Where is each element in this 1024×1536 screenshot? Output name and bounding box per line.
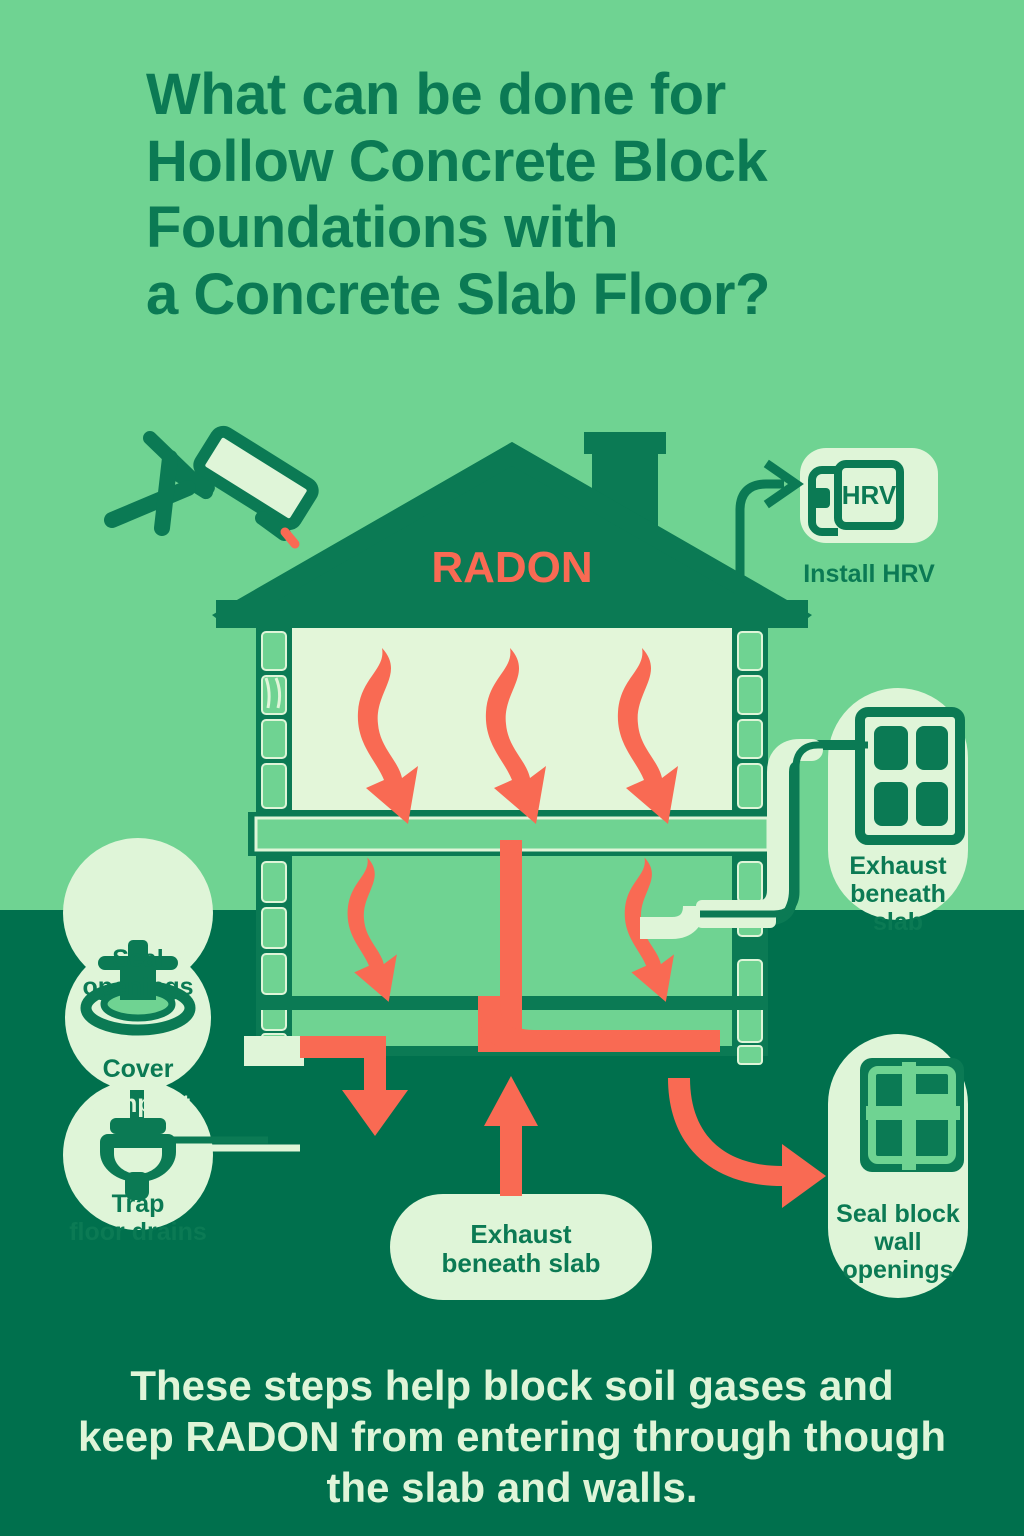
caption-line-2: keep RADON from entering through though — [62, 1411, 962, 1462]
chimney-cap — [584, 432, 666, 454]
seal-openings-line-2: openings — [58, 973, 218, 1001]
ebs-bottom-line-2: beneath slab — [390, 1249, 652, 1278]
cover-sump-pit-line-1: Cover — [58, 1055, 218, 1083]
title-line-2: Hollow Concrete Block — [146, 129, 886, 196]
callout-label-seal-openings: Seal openings — [58, 945, 218, 1001]
sbwo-line-1: Seal block — [824, 1200, 972, 1228]
title-line-4: a Concrete Slab Floor? — [146, 262, 886, 329]
callout-label-exhaust-beneath-slab-right: Exhaust beneath slab — [828, 852, 968, 936]
ebs-bottom-line-1: Exhaust — [390, 1220, 652, 1249]
sbwo-line-3: openings — [824, 1256, 972, 1284]
title-line-3: Foundations with — [146, 195, 886, 262]
title-line-1: What can be done for — [146, 62, 886, 129]
left-footing — [244, 1036, 304, 1066]
callout-label-install-hrv: Install HRV — [789, 560, 949, 588]
bottom-caption: These steps help block soil gases and ke… — [62, 1360, 962, 1514]
caulk-gun-icon — [112, 429, 316, 544]
seal-openings-line-1: Seal — [58, 945, 218, 973]
trap-floor-drains-line-2: floor drains — [38, 1218, 238, 1246]
left-block-wall-basement — [256, 856, 292, 1056]
ebs-right-line-2: beneath — [828, 880, 968, 908]
callout-label-exhaust-beneath-slab-bottom: Exhaust beneath slab — [390, 1220, 652, 1278]
infographic-poster: What can be done for Hollow Concrete Blo… — [0, 0, 1024, 1536]
callout-label-seal-block-wall-openings: Seal block wall openings — [824, 1200, 972, 1284]
soil-gas-up-arrow — [484, 1076, 538, 1196]
trap-floor-drains-line-1: Trap — [38, 1190, 238, 1218]
right-block-wall-basement — [732, 856, 768, 1064]
center-riser — [500, 840, 522, 1018]
sbwo-line-2: wall — [824, 1228, 972, 1256]
left-block-wall-upper — [256, 628, 292, 818]
page-title: What can be done for Hollow Concrete Blo… — [146, 62, 886, 329]
right-block-wall-upper — [732, 628, 768, 818]
cover-sump-pit-line-2: sump pit — [48, 1090, 228, 1118]
ebs-right-line-1: Exhaust — [828, 852, 968, 880]
ebs-right-line-3: slab — [828, 908, 968, 936]
install-hrv-line-1: Install HRV — [789, 560, 949, 588]
caption-line-1: These steps help block soil gases and — [62, 1360, 962, 1411]
callout-label-trap-floor-drains: Trap floor drains — [38, 1190, 238, 1246]
hrv-icon-text: HRV — [842, 480, 897, 510]
seal-block-curved-arrow — [668, 1078, 826, 1208]
sealed-block-icon — [860, 1058, 964, 1172]
roof-base — [216, 600, 808, 628]
radon-label: RADON — [431, 543, 592, 592]
caption-line-3: the slab and walls. — [62, 1462, 962, 1513]
callout-label-cover-sump-pit-top: Cover — [58, 1055, 218, 1083]
callout-label-cover-sump-pit-bottom: sump pit — [48, 1090, 228, 1118]
